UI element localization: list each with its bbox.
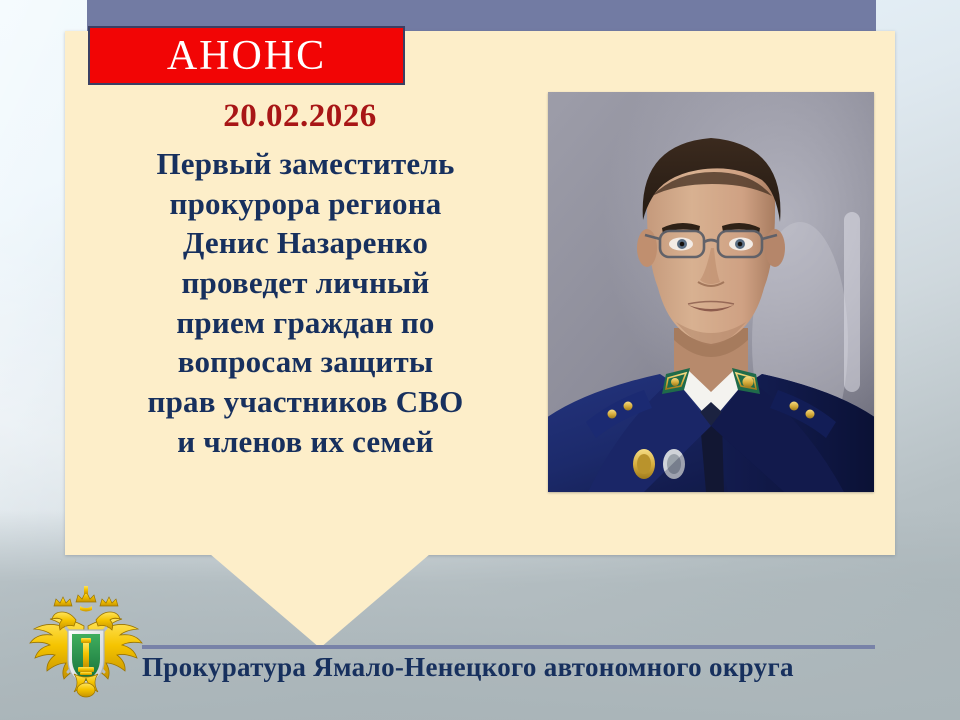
announcement-slide: АНОНС 20.02.2026 Первый заместитель прок… <box>0 0 960 720</box>
announcement-line: прокурора региона <box>78 184 533 224</box>
announcement-line: проведет личный <box>78 263 533 303</box>
announcement-line: Денис Назаренко <box>78 223 533 263</box>
portrait-photo <box>548 92 874 492</box>
footer-divider <box>142 645 875 649</box>
footer-organization: Прокуратура Ямало-Ненецкого автономного … <box>142 652 882 683</box>
announcement-line: прав участников СВО <box>78 382 533 422</box>
announcement-body: Первый заместитель прокурора региона Ден… <box>78 144 533 461</box>
prosecutor-office-emblem <box>26 586 146 701</box>
content-panel-tail <box>210 554 430 648</box>
anons-banner: АНОНС <box>88 26 405 85</box>
announcement-line: прием граждан по <box>78 303 533 343</box>
announcement-date: 20.02.2026 <box>85 98 515 135</box>
announcement-line: и членов их семей <box>78 422 533 462</box>
announcement-line: вопросам защиты <box>78 342 533 382</box>
announcement-line: Первый заместитель <box>78 144 533 184</box>
anons-banner-label: АНОНС <box>167 35 326 77</box>
